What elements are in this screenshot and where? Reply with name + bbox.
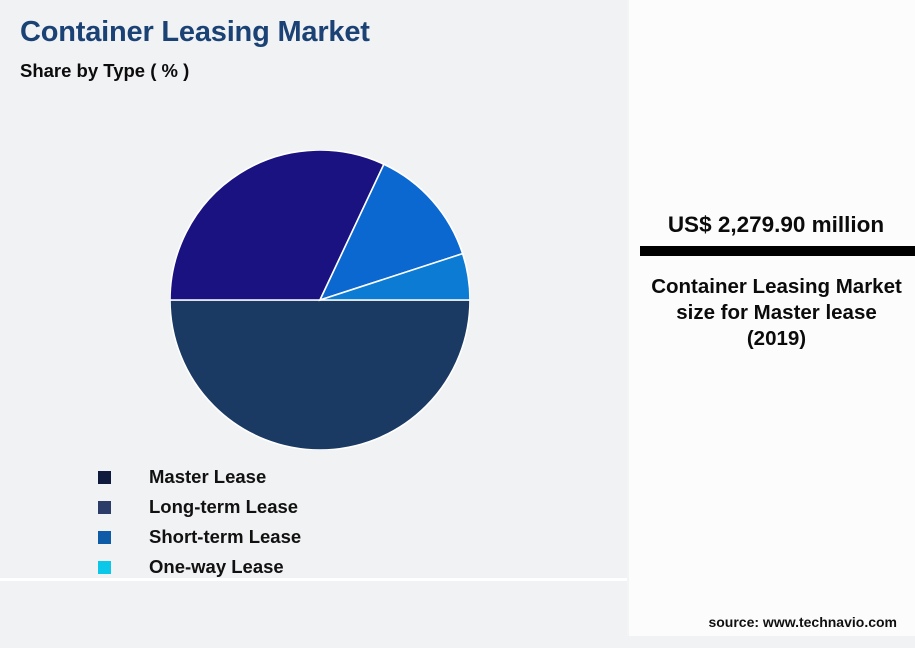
legend-item-label: Master Lease [149, 468, 266, 487]
chart-panel: Container Leasing Market Share by Type (… [0, 0, 627, 648]
infographic-page: Container Leasing Market Share by Type (… [0, 0, 915, 648]
legend-item-label: Long-term Lease [149, 498, 298, 517]
legend-swatch-icon [98, 501, 111, 514]
legend-item-label: One-way Lease [149, 558, 284, 577]
pie-slice-group [170, 150, 470, 450]
pie-slice [170, 300, 470, 450]
source-note: source: www.technavio.com [627, 614, 897, 630]
legend-swatch-icon [98, 471, 111, 484]
divider [0, 578, 627, 581]
legend-swatch-icon [98, 531, 111, 544]
chart-legend: Master Lease Long-term Lease Short-term … [98, 462, 518, 582]
pie-chart-svg [170, 150, 470, 450]
callout-divider [640, 246, 915, 256]
callout-description: Container Leasing Market size for Master… [649, 274, 904, 352]
legend-item-label: Short-term Lease [149, 528, 301, 547]
legend-swatch-icon [98, 561, 111, 574]
pie-chart [170, 150, 470, 450]
legend-item-long-term-lease: Long-term Lease [98, 492, 518, 522]
page-title: Container Leasing Market [20, 16, 370, 49]
chart-subtitle: Share by Type ( % ) [20, 60, 189, 82]
callout-value: US$ 2,279.90 million [640, 212, 912, 238]
callout-panel: US$ 2,279.90 million Container Leasing M… [627, 0, 915, 636]
legend-item-master-lease: Master Lease [98, 462, 518, 492]
legend-item-short-term-lease: Short-term Lease [98, 522, 518, 552]
